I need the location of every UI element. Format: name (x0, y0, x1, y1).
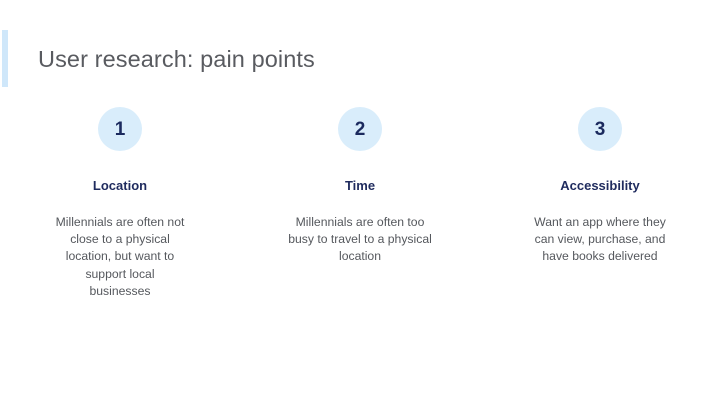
pain-point-card-3: 3 Accessibility Want an app where they c… (480, 107, 720, 266)
pain-point-body-3: Want an app where they can view, purchas… (525, 214, 675, 266)
step-badge-3: 3 (578, 107, 622, 151)
pain-point-card-2: 2 Time Millennials are often too busy to… (240, 107, 480, 266)
slide-canvas: User research: pain points 1 Location Mi… (0, 0, 720, 405)
pain-point-card-1: 1 Location Millennials are often not clo… (0, 107, 240, 300)
pain-point-heading-2: Time (345, 178, 375, 194)
page-title: User research: pain points (38, 45, 315, 73)
pain-points-columns: 1 Location Millennials are often not clo… (0, 107, 720, 300)
step-number-1: 1 (115, 120, 126, 139)
pain-point-heading-3: Accessibility (560, 178, 640, 194)
pain-point-body-2: Millennials are often too busy to travel… (287, 214, 433, 266)
step-badge-1: 1 (98, 107, 142, 151)
pain-point-body-1: Millennials are often not close to a phy… (54, 214, 186, 301)
step-badge-2: 2 (338, 107, 382, 151)
pain-point-heading-1: Location (93, 178, 147, 194)
step-number-2: 2 (355, 120, 366, 139)
title-accent-bar (2, 30, 8, 87)
step-number-3: 3 (595, 120, 606, 139)
